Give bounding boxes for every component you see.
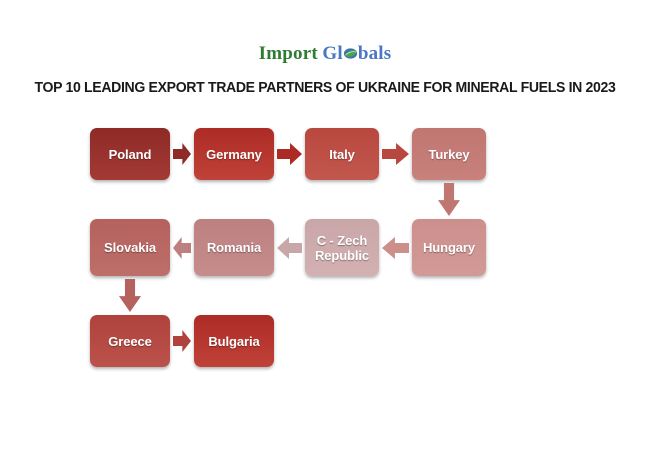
node-label: Italy (325, 147, 359, 162)
arrow-right-poland-to-germany (173, 143, 191, 165)
logo-text-import: Import (259, 43, 318, 64)
node-germany[interactable]: Germany (194, 128, 274, 180)
globe-leaf-icon (343, 46, 358, 61)
node-hungary[interactable]: Hungary (412, 219, 486, 276)
node-label: Hungary (419, 240, 479, 255)
arrow-left-hungary-to-c-zech-republic (382, 237, 409, 259)
arrow-right-italy-to-turkey (382, 143, 409, 165)
node-romania[interactable]: Romania (194, 219, 274, 276)
logo-text-gl: Gl (322, 43, 342, 64)
node-label: Poland (105, 147, 156, 162)
brand-logo: Import Glbals (0, 44, 650, 63)
arrow-left-c-zech-republic-to-romania (277, 237, 302, 259)
node-slovakia[interactable]: Slovakia (90, 219, 170, 276)
arrow-down-slovakia-to-greece (119, 279, 141, 312)
node-poland[interactable]: Poland (90, 128, 170, 180)
node-label: Turkey (424, 147, 473, 162)
arrow-right-germany-to-italy (277, 143, 302, 165)
arrow-right-greece-to-bulgaria (173, 330, 191, 352)
arrow-left-romania-to-slovakia (173, 237, 191, 259)
node-label: Romania (203, 240, 265, 255)
node-greece[interactable]: Greece (90, 315, 170, 367)
logo-text-bals: bals (358, 43, 392, 64)
node-bulgaria[interactable]: Bulgaria (194, 315, 274, 367)
node-label: Bulgaria (204, 334, 263, 349)
node-label: C - Zech Republic (305, 233, 379, 263)
page-title: TOP 10 LEADING EXPORT TRADE PARTNERS OF … (5, 80, 645, 96)
diagram-canvas: Import Glbals TOP 10 LEADING EXPORT TRAD… (0, 0, 650, 450)
node-label: Germany (202, 147, 266, 162)
node-label: Slovakia (100, 240, 160, 255)
node-label: Greece (104, 334, 156, 349)
node-italy[interactable]: Italy (305, 128, 379, 180)
node-c-zech-republic[interactable]: C - Zech Republic (305, 219, 379, 276)
arrow-down-turkey-to-hungary (438, 183, 460, 216)
node-turkey[interactable]: Turkey (412, 128, 486, 180)
